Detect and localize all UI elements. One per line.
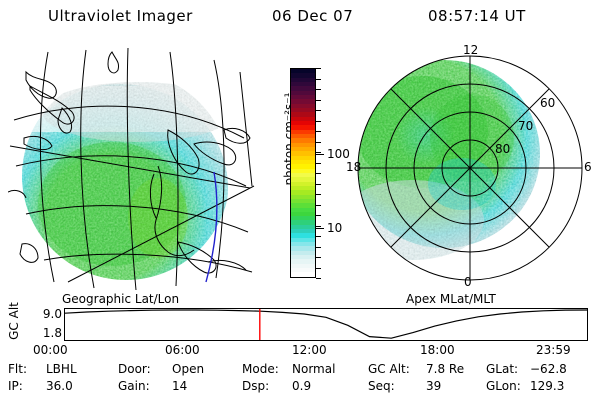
gc-alt-x-tick-label: 23:59 [536,344,571,356]
gc-alt-y-tick-label: 1.8 [43,327,62,339]
gc-alt-axis-label: GC Alt [7,295,21,347]
status-field-value: Normal [292,362,335,376]
status-bar: Flt:LBHLDoor:OpenMode:NormalGC Alt:7.8 R… [0,362,600,398]
colorbar-minor-tick [316,247,321,248]
gc-alt-strip-chart[interactable]: GC Alt 9.01.8 00:0006:0012:0018:0023:59 [0,302,600,358]
colorbar-major-tick [316,154,324,155]
mlat-ring-label-80: 80 [495,143,510,155]
status-field-value: 36.0 [46,379,73,393]
geographic-image-panel[interactable] [8,46,270,294]
colorbar-minor-tick [316,278,321,279]
status-field-label: Gain: [118,379,150,393]
colorbar-minor-tick [316,215,321,216]
colorbar-major-tick [316,228,324,229]
colorbar-minor-tick [316,194,321,195]
status-field-label: Dsp: [242,379,269,393]
colorbar-minor-tick [316,236,321,237]
gc-alt-x-tick-label: 12:00 [292,344,327,356]
colorbar-minor-tick [316,226,321,227]
colorbar-minor-tick [316,173,321,174]
colorbar-minor-tick [316,89,321,90]
colorbar-minor-tick [316,131,321,132]
colorbar-ticks: 10010 [316,68,350,278]
page-title: Ultraviolet Imager [48,7,193,25]
colorbar-minor-tick [316,68,321,69]
gc-alt-x-ticks: 00:0006:0012:0018:0023:59 [0,344,600,360]
mlt-label-6: 6 [584,161,592,173]
mlat-ring-label-70: 70 [518,120,533,132]
status-field-value: 39 [426,379,441,393]
status-field-label: Mode: [242,362,279,376]
colorbar-group: photon cm⁻²s⁻¹ 10010 [268,60,348,290]
status-field-value: 0.9 [292,379,311,393]
mlt-label-18: 18 [346,161,361,173]
gc-alt-x-tick-label: 18:00 [420,344,455,356]
header-date: 06 Dec 07 [272,7,353,25]
mlt-label-12: 12 [463,44,478,56]
status-field-label: Seq: [368,379,395,393]
status-field-label: GC Alt: [368,362,410,376]
colorbar-minor-tick [316,100,321,101]
colorbar-tick-label: 10 [327,222,342,234]
status-field-label: Flt: [8,362,27,376]
status-field-value: Open [172,362,204,376]
status-field-label: Door: [118,362,151,376]
colorbar-minor-tick [316,268,321,269]
colorbar-minor-tick [316,163,321,164]
gc-alt-x-tick-label: 00:00 [33,344,68,356]
mlt-spokes [358,56,582,280]
colorbar-tick-label: 100 [327,148,350,160]
colorbar-segment [291,272,315,276]
colorbar-minor-tick [316,79,321,80]
status-field-value: 14 [172,379,187,393]
status-row-1: Flt:LBHLDoor:OpenMode:NormalGC Alt:7.8 R… [0,362,600,379]
status-field-value: 7.8 Re [426,362,464,376]
mlat-ring-label-60: 60 [540,97,555,109]
status-field-value: LBHL [46,362,77,376]
mlt-label-0: 0 [464,276,472,288]
status-field-label: GLat: [486,362,518,376]
gc-alt-y-ticks: 9.01.8 [22,308,62,344]
colorbar-minor-tick [316,121,321,122]
status-field-label: GLon: [486,379,521,393]
header-time: 08:57:14 UT [428,7,526,25]
header-bar: Ultraviolet Imager 06 Dec 07 08:57:14 UT [0,5,600,29]
status-field-label: IP: [8,379,23,393]
gc-alt-curve [65,309,587,340]
colorbar-minor-tick [316,205,321,206]
colorbar-minor-tick [316,257,321,258]
status-field-value: −62.8 [530,362,567,376]
colorbar-minor-tick [316,184,321,185]
status-row-2: IP:36.0Gain:14Dsp:0.9Seq:39GLon:129.3 [0,379,600,396]
gc-alt-x-tick-label: 06:00 [165,344,200,356]
colorbar-minor-tick [316,142,321,143]
colorbar-gradient [290,68,316,278]
magnetic-polar-panel[interactable]: 12 6 0 18 60 70 80 [352,42,596,294]
colorbar-minor-tick [316,152,321,153]
aurora-emission-geographic [8,46,270,294]
gc-alt-plot-area[interactable] [64,308,588,341]
colorbar-minor-tick [316,110,321,111]
status-field-value: 129.3 [530,379,564,393]
gc-alt-y-tick-label: 9.0 [43,308,62,320]
